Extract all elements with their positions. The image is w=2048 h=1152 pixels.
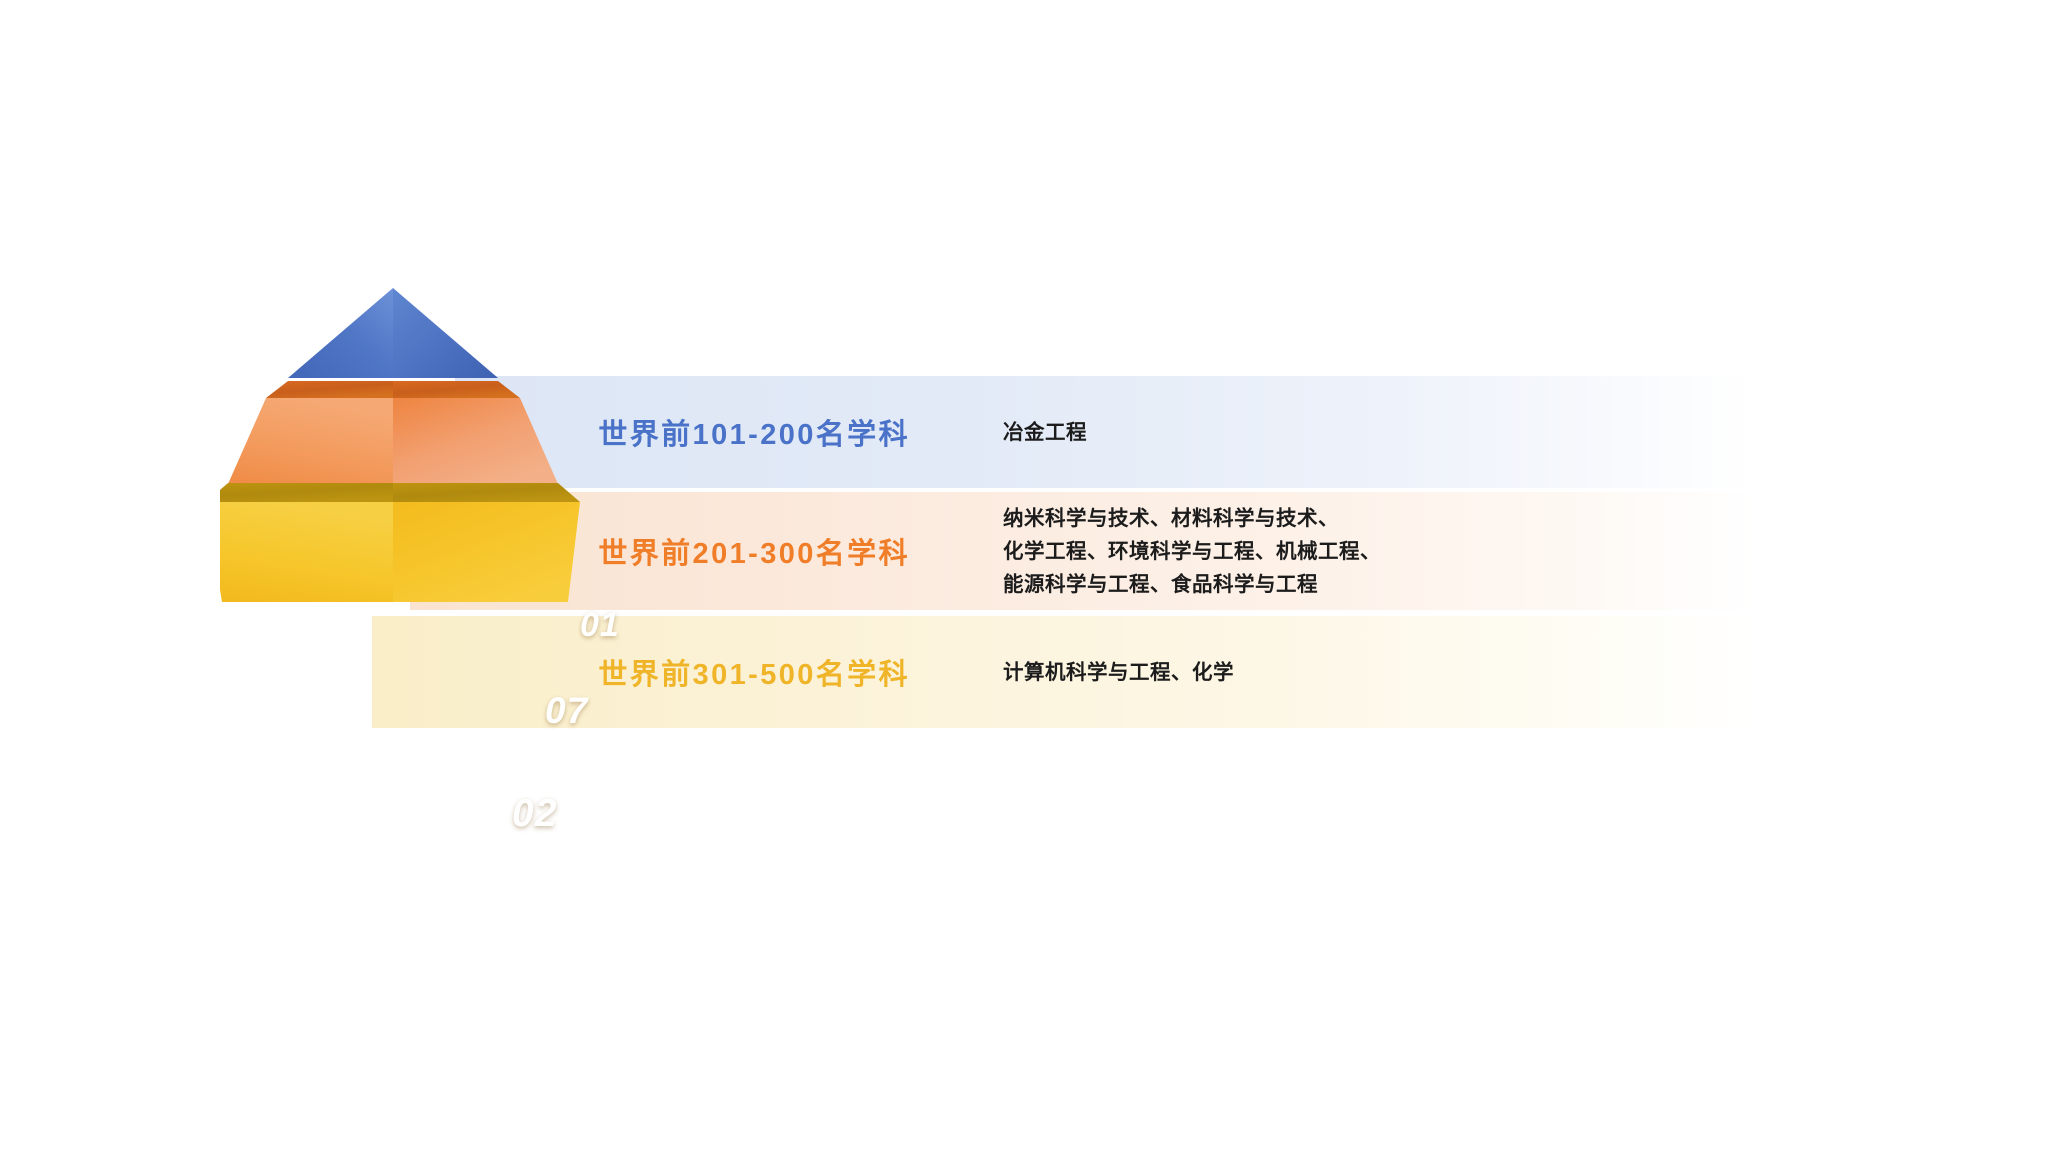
pyramid-graphic: 01 07 02 [220,280,840,610]
infographic-canvas: 世界前101-200名学科 冶金工程 世界前201-300名学科 纳米科学与技术… [0,0,2048,1152]
tier-disciplines-line: 纳米科学与技术、材料科学与技术、 [1003,502,1381,535]
tier-disciplines-02: 计算机科学与工程、化学 [1003,656,1234,689]
tier-disciplines-line: 化学工程、环境科学与工程、机械工程、 [1003,535,1381,568]
pyramid-tier-02 [220,483,580,602]
pyramid-tier-07-right-face [393,398,558,484]
pyramid-tier-02-top-right [393,483,580,502]
pyramid-tier-02-right-face [393,502,580,602]
tier-row-content-02: 世界前301-500名学科 计算机科学与工程、化学 [372,616,1755,728]
pyramid-tier-01-left-face [288,288,393,378]
pyramid-tier-01 [288,288,498,378]
pyramid-tier-02-left-face [220,502,393,602]
pyramid-svg [220,280,840,610]
tier-rank-label-02: 世界前301-500名学科 [598,651,910,693]
pyramid-tier-01-right-face [393,288,498,378]
pyramid-tier-07-top-right [393,381,520,398]
pyramid-tier-07 [228,381,558,484]
tier-row-02: 世界前301-500名学科 计算机科学与工程、化学 [372,616,1755,728]
tier-disciplines-07: 纳米科学与技术、材料科学与技术、 化学工程、环境科学与工程、机械工程、 能源科学… [1003,502,1381,601]
pyramid-tier-07-top-left [266,381,393,398]
tier-disciplines-line: 能源科学与工程、食品科学与工程 [1003,568,1381,601]
pyramid-tier-07-left-face [228,398,393,484]
tier-disciplines-01: 冶金工程 [1003,416,1087,449]
pyramid-tier-02-top-left [220,483,393,502]
pyramid-tier-number-02: 02 [512,792,557,836]
